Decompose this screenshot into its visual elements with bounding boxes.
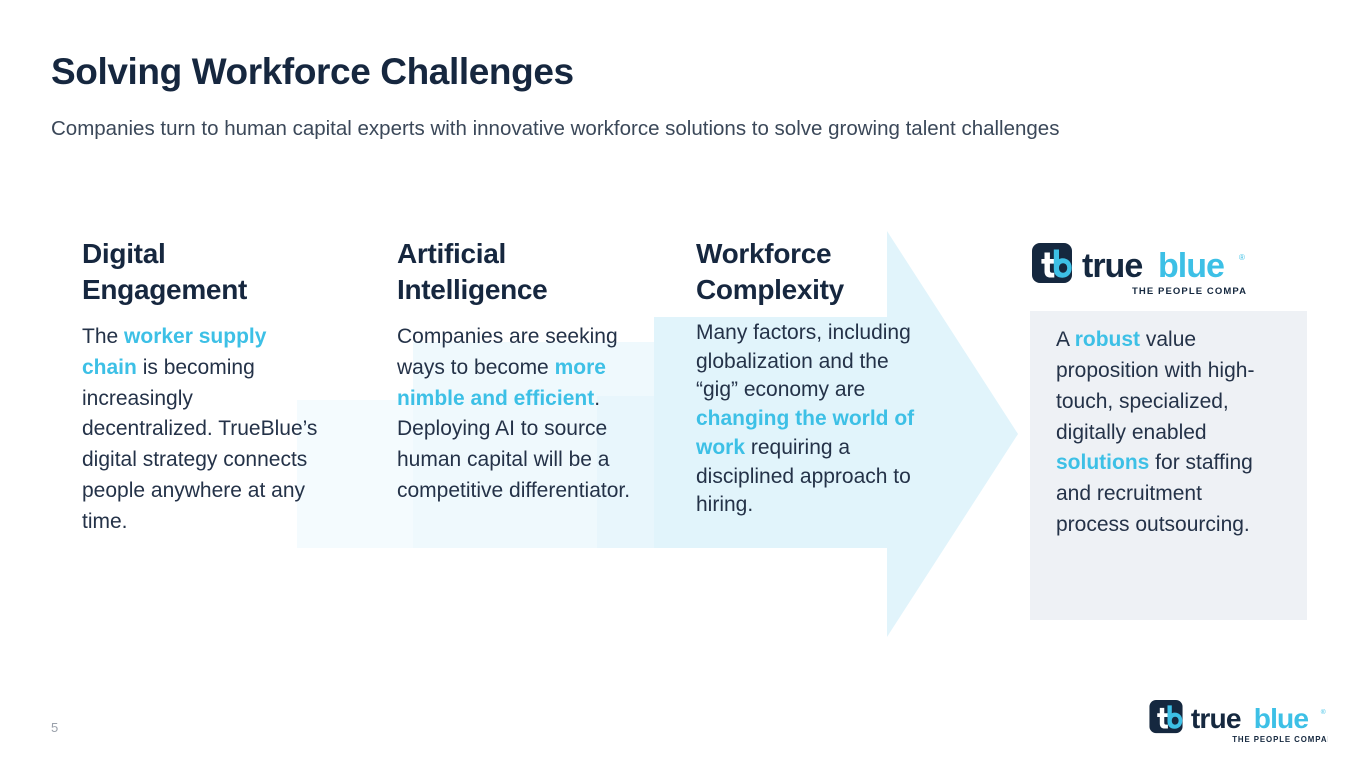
page-subtitle: Companies turn to human capital experts …: [51, 114, 1281, 144]
body-text-run: Many factors, including globalization an…: [696, 321, 911, 402]
highlighted-phrase: solutions: [1056, 451, 1149, 474]
logo-registered-mark: ®: [1321, 708, 1326, 716]
column-heading: Digital Engagement: [82, 236, 322, 309]
logo-wordmark-true: true: [1191, 703, 1241, 734]
column-digital-engagement: Digital Engagement The worker supply cha…: [82, 236, 322, 538]
logo-wordmark-blue: blue: [1254, 703, 1309, 734]
column-heading-line-1: Workforce: [696, 238, 831, 269]
page-title: Solving Workforce Challenges: [51, 52, 574, 92]
logo-tagline: THE PEOPLE COMPANY®: [1232, 735, 1328, 744]
logo-registered-mark: ®: [1239, 253, 1245, 262]
value-proposition-text: A robust value proposition with high-tou…: [1056, 325, 1281, 541]
column-body: Companies are seeking ways to become mor…: [397, 322, 659, 507]
column-body: The worker supply chain is becoming incr…: [82, 322, 322, 538]
column-heading-line-2: Intelligence: [397, 274, 547, 305]
logo-wordmark-blue: blue: [1158, 247, 1224, 285]
trueblue-logo: true blue ® THE PEOPLE COMPANY®: [1032, 243, 1246, 301]
body-text-run: The: [82, 325, 124, 348]
column-heading-line-1: Artificial: [397, 238, 506, 269]
logo-tagline: THE PEOPLE COMPANY®: [1132, 286, 1246, 297]
page-number: 5: [51, 720, 58, 735]
column-artificial-intelligence: Artificial Intelligence Companies are se…: [397, 236, 659, 507]
column-heading-line-1: Digital: [82, 238, 165, 269]
value-proposition-panel: A robust value proposition with high-tou…: [1030, 311, 1307, 620]
body-text-run: A: [1056, 328, 1075, 351]
column-body: Many factors, including globalization an…: [696, 319, 934, 520]
slide-canvas: Solving Workforce Challenges Companies t…: [0, 0, 1365, 768]
column-heading-line-2: Complexity: [696, 274, 844, 305]
column-heading: Artificial Intelligence: [397, 236, 659, 309]
logo-wordmark-true: true: [1082, 247, 1142, 285]
column-workforce-complexity: Workforce Complexity Many factors, inclu…: [696, 236, 934, 520]
column-heading-line-2: Engagement: [82, 274, 247, 305]
column-heading: Workforce Complexity: [696, 236, 934, 309]
highlighted-phrase: robust: [1075, 328, 1140, 351]
trueblue-logo-footer: true blue ® THE PEOPLE COMPANY®: [1148, 700, 1328, 748]
body-text-run: is becoming increasingly decentralized. …: [82, 356, 317, 533]
